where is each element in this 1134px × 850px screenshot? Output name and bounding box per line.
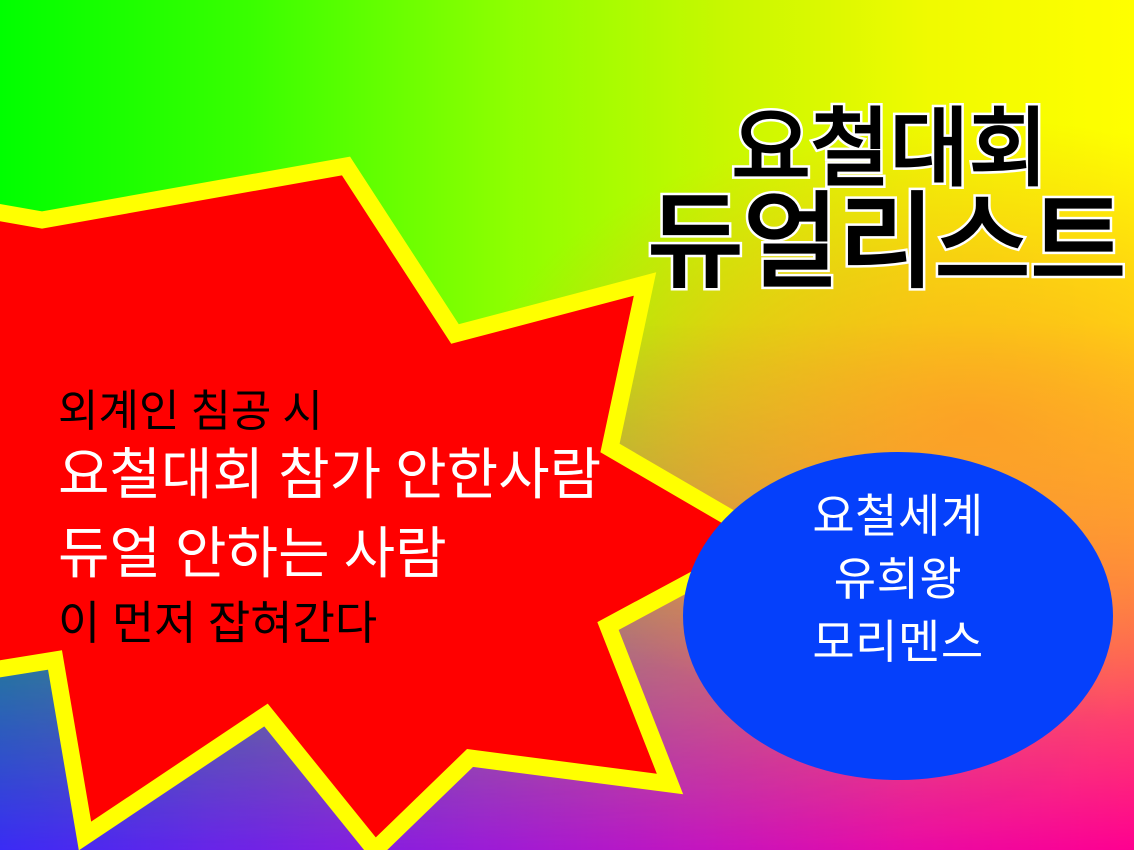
star-text-line-4: 이 먼저 잡혀간다	[58, 594, 738, 654]
ellipse-text-line-3: 모리멘스	[683, 611, 1113, 674]
star-text-line-1: 외계인 침공 시	[58, 386, 738, 437]
title-line-1: 요철대회	[430, 104, 1130, 195]
ellipse-text-block: 요철세계 유희왕 모리멘스	[683, 485, 1113, 674]
slide-canvas: 요철대회 듀얼리스트 외계인 침공 시 요철대회 참가 안한사람 듀얼 안하는 …	[0, 0, 1134, 850]
star-body-text: 외계인 침공 시 요철대회 참가 안한사람 듀얼 안하는 사람 이 먼저 잡혀간…	[58, 386, 738, 654]
slide-title: 요철대회 듀얼리스트	[430, 104, 1130, 299]
star-text-line-3: 듀얼 안하는 사람	[58, 517, 738, 594]
ellipse-text-line-1: 요철세계	[683, 485, 1113, 548]
star-text-line-2: 요철대회 참가 안한사람	[58, 437, 738, 517]
ellipse-text-line-2: 유희왕	[683, 548, 1113, 611]
title-line-2: 듀얼리스트	[430, 189, 1130, 299]
